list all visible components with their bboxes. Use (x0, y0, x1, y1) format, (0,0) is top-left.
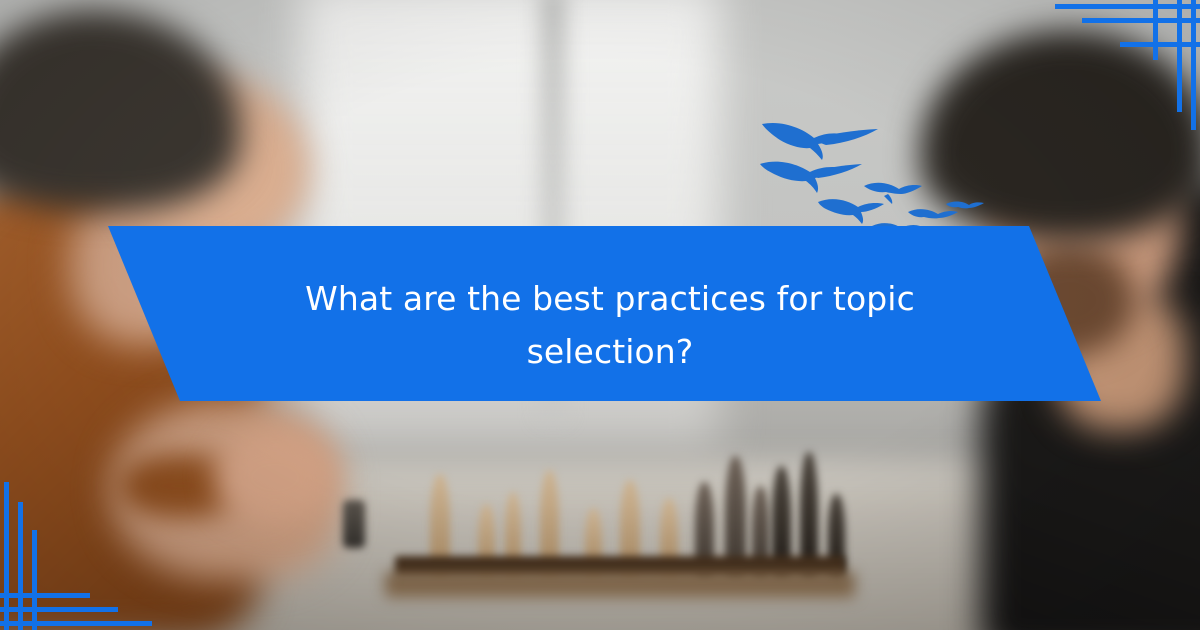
decoration-line-vertical (1177, 0, 1182, 112)
banner-image-canvas: What are the best practices for topic se… (0, 0, 1200, 630)
decoration-line-vertical (4, 482, 9, 630)
flying-birds-flock (760, 108, 990, 228)
decoration-line-horizontal (1082, 18, 1200, 23)
decoration-line-vertical (1153, 0, 1158, 60)
left-person-hand (215, 430, 335, 525)
decoration-line-horizontal (0, 593, 90, 598)
decoration-line-vertical (18, 502, 23, 630)
decoration-top-right (1030, 0, 1200, 135)
headline-banner: What are the best practices for topic se… (0, 226, 1200, 401)
decoration-line-horizontal (1120, 42, 1200, 47)
decoration-bottom-left (0, 480, 170, 630)
decoration-line-vertical (32, 530, 37, 630)
chess-board-edge (385, 572, 855, 598)
page-title: What are the best practices for topic se… (230, 272, 990, 379)
chess-clock (343, 500, 365, 548)
decoration-line-vertical (1191, 0, 1196, 130)
